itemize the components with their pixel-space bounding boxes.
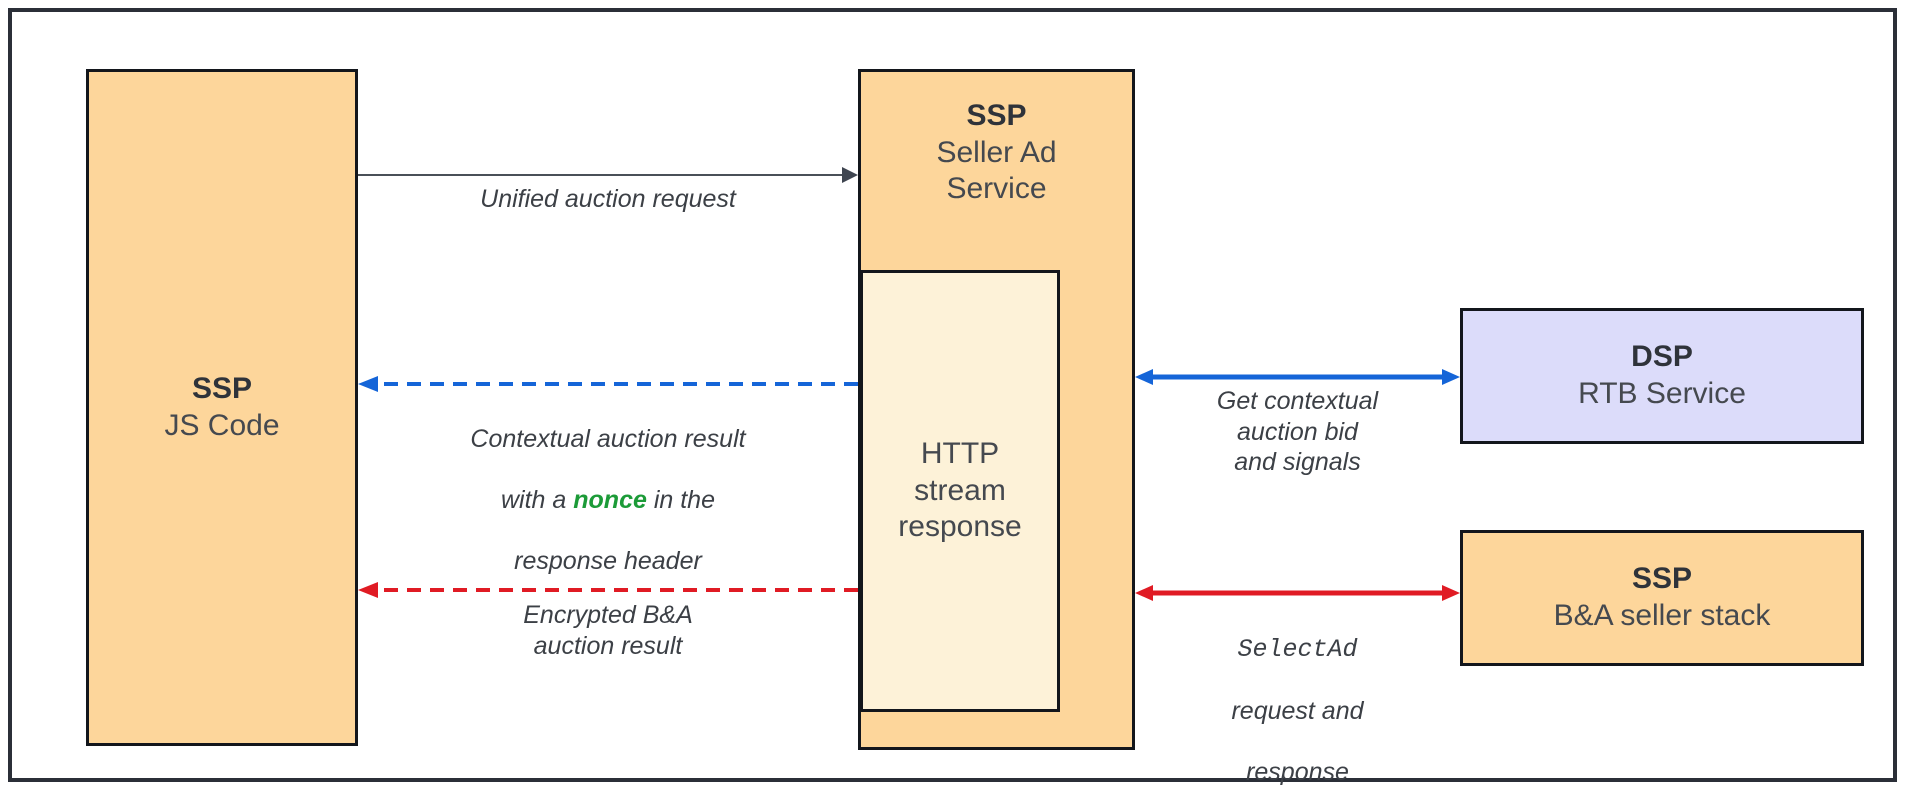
edge-label-selectad-request-response: SelectAd request and response with a non… [1155, 602, 1440, 808]
nonce-keyword: nonce [573, 486, 647, 514]
label-line-1: Contextual auction result [470, 425, 745, 453]
node-title: DSP [1631, 339, 1693, 376]
edge-get-contextual-bid-arrow [1135, 369, 1460, 385]
label-line-3: response header [514, 547, 702, 575]
node-subtitle: Seller Ad Service [936, 135, 1056, 208]
label-line-2-post: in the [647, 486, 715, 514]
node-title: SSP [1632, 561, 1692, 598]
node-dsp-rtb-service[interactable]: DSP RTB Service [1460, 308, 1864, 444]
node-subtitle: B&A seller stack [1554, 598, 1771, 635]
node-subtitle: RTB Service [1578, 376, 1746, 413]
edge-selectad-request-response-arrow [1135, 585, 1460, 601]
node-ssp-ba-seller-stack[interactable]: SSP B&A seller stack [1460, 530, 1864, 666]
node-label: HTTP stream response [898, 436, 1021, 546]
node-ssp-js-code[interactable]: SSP JS Code [86, 69, 358, 746]
edge-unified-auction-request-arrow [358, 167, 858, 183]
node-title: SSP [192, 371, 252, 408]
node-title: SSP [966, 98, 1026, 135]
label-line-3: response [1246, 758, 1349, 786]
edge-label-contextual-auction-result: Contextual auction result with a nonce i… [378, 393, 838, 576]
label-selectad-mono: SelectAd [1237, 635, 1357, 664]
diagram-outer-frame: SSP JS Code SSP Seller Ad Service HTTP s… [8, 8, 1897, 782]
edge-label-get-contextual-bid: Get contextual auction bid and signals [1155, 386, 1440, 478]
label-line-2-pre: with a [501, 486, 573, 514]
edge-label-encrypted-ba-auction-result: Encrypted B&A auction result [378, 600, 838, 661]
edge-encrypted-ba-auction-result-arrow [358, 582, 858, 598]
diagram-canvas: SSP JS Code SSP Seller Ad Service HTTP s… [0, 0, 1913, 808]
edge-contextual-auction-result-arrow [358, 376, 858, 392]
label-line-2: request and [1231, 697, 1363, 725]
edge-label-unified-auction-request: Unified auction request [358, 184, 858, 215]
node-http-stream-response[interactable]: HTTP stream response [860, 270, 1060, 712]
node-subtitle: JS Code [164, 408, 279, 445]
